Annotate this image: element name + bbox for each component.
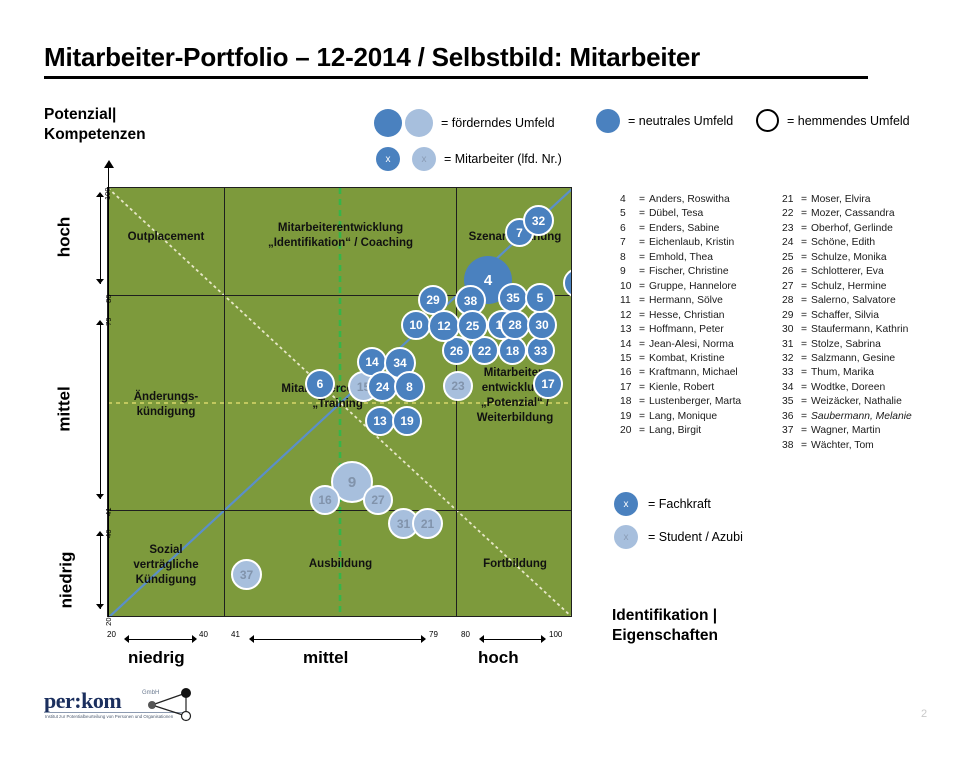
employee-number: 9 [620, 265, 639, 279]
employee-list-item: 28=Salerno, Salvatore [782, 294, 912, 308]
equals-sign: = [801, 410, 811, 424]
employee-list-item: 27=Schulz, Hermine [782, 280, 912, 294]
employee-number: 24 [782, 236, 801, 250]
employee-number: 34 [782, 381, 801, 395]
employee-name: Oberhof, Gerlinde [811, 222, 893, 236]
cell-niedrig-hoch: Fortbildung [457, 511, 572, 617]
y-axis-scale: 100 80 79 41 40 20 hoch mittel niedrig [78, 187, 108, 617]
employee-number: 25 [782, 251, 801, 265]
equals-sign: = [801, 338, 811, 352]
employee-number: 12 [620, 309, 639, 323]
legend-environment: = förderndes Umfeld = neutrales Umfeld =… [374, 104, 934, 176]
bubble-6[interactable]: 6 [305, 369, 335, 399]
y-tick-80: 80 [104, 295, 113, 303]
y-tick-79: 79 [104, 318, 113, 326]
cell-hoch-niedrig: Outplacement [108, 188, 224, 295]
equals-sign: = [639, 251, 649, 265]
employee-list-item: 26=Schlotterer, Eva [782, 265, 912, 279]
cell-label-sozial-vertraegliche-kuendigung: Sozial verträgliche Kündigung [108, 543, 224, 588]
employee-name: Schaffer, Silvia [811, 309, 879, 323]
employee-list-item: 14=Jean-Alesi, Norma [620, 338, 741, 352]
legend-roles: x = Fachkraft x = Student / Azubi [614, 492, 743, 558]
employee-name: Emhold, Thea [649, 251, 713, 265]
employee-number: 20 [620, 424, 639, 438]
bubble-37[interactable]: 37 [231, 559, 262, 590]
logo-wordmark: per:kom [44, 688, 121, 714]
employee-list-item: 6=Enders, Sabine [620, 222, 741, 236]
legend-label-student-azubi: = Student / Azubi [648, 530, 743, 544]
employee-list-item: 23=Oberhof, Gerlinde [782, 222, 912, 236]
slide-canvas: Mitarbeiter-Portfolio – 12-2014 / Selbst… [0, 0, 960, 760]
equals-sign: = [639, 366, 649, 380]
bubble-light-x-icon: x [412, 147, 436, 171]
employee-number: 23 [782, 222, 801, 236]
employee-number: 35 [782, 395, 801, 409]
y-band-mittel-arrow-bottom [96, 494, 104, 499]
bubble-8[interactable]: 8 [394, 371, 425, 402]
legend-label-neutrales-umfeld: = neutrales Umfeld [628, 114, 733, 128]
y-band-label-mittel: mittel [55, 386, 75, 431]
employee-list-item: 17=Kienle, Robert [620, 381, 741, 395]
employee-list-item: 21=Moser, Elvira [782, 193, 912, 207]
employee-number: 22 [782, 207, 801, 221]
employee-name: Mozer, Cassandra [811, 207, 895, 221]
employee-name: Wodtke, Doreen [811, 381, 885, 395]
legend-item-neutrales-umfeld: = neutrales Umfeld [596, 109, 733, 133]
employee-name: Lang, Birgit [649, 424, 701, 438]
x-band-hoch-arrow-right [541, 635, 546, 643]
employee-list-item: 5=Dübel, Tesa [620, 207, 741, 221]
employee-name: Staufermann, Kathrin [811, 323, 908, 337]
y-tick-41: 41 [104, 508, 113, 516]
equals-sign: = [639, 193, 649, 207]
employee-list-column-1: 4=Anders, Roswitha5=Dübel, Tesa6=Enders,… [620, 193, 741, 439]
x-band-niedrig-arrow-right [192, 635, 197, 643]
employee-number: 18 [620, 395, 639, 409]
employee-list-item: 8=Emhold, Thea [620, 251, 741, 265]
equals-sign: = [639, 236, 649, 250]
employee-name: Saubermann, Melanie [811, 410, 912, 424]
employee-list-item: 25=Schulze, Monika [782, 251, 912, 265]
circle-dark-icon [596, 109, 620, 133]
employee-list-item: 11=Hermann, Sölve [620, 294, 741, 308]
employee-name: Wagner, Martin [811, 424, 880, 438]
employee-list-item: 36=Saubermann, Melanie [782, 410, 912, 424]
page-number: 2 [921, 708, 927, 720]
bubble-10[interactable]: 10 [401, 310, 431, 340]
x-tick-80: 80 [461, 630, 470, 639]
equals-sign: = [639, 381, 649, 395]
bubble-18[interactable]: 18 [498, 336, 527, 365]
x-band-mittel-arrow-right [421, 635, 426, 643]
employee-list-item: 33=Thum, Marika [782, 366, 912, 380]
bubble-21[interactable]: 21 [412, 508, 443, 539]
employee-list-item: 18=Lustenberger, Marta [620, 395, 741, 409]
employee-number: 14 [620, 338, 639, 352]
x-axis-scale: 20 40 niedrig 41 79 mittel 80 100 hoch [107, 625, 572, 675]
employee-name: Kienle, Robert [649, 381, 714, 395]
page-title: Mitarbeiter-Portfolio – 12-2014 / Selbst… [44, 42, 700, 73]
bubble-12[interactable]: 12 [428, 310, 460, 342]
employee-name: Stolze, Sabrina [811, 338, 881, 352]
employee-number: 6 [620, 222, 639, 236]
employee-name: Kombat, Kristine [649, 352, 725, 366]
employee-number: 16 [620, 366, 639, 380]
employee-name: Hesse, Christian [649, 309, 725, 323]
employee-name: Wächter, Tom [811, 439, 874, 453]
employee-name: Schöne, Edith [811, 236, 875, 250]
employee-number: 15 [620, 352, 639, 366]
employee-number: 8 [620, 251, 639, 265]
employee-list-item: 12=Hesse, Christian [620, 309, 741, 323]
employee-name: Fischer, Christine [649, 265, 729, 279]
employee-number: 33 [782, 366, 801, 380]
employee-list-item: 35=Weizäcker, Nathalie [782, 395, 912, 409]
equals-sign: = [639, 265, 649, 279]
employee-list-item: 13=Hoffmann, Peter [620, 323, 741, 337]
employee-list-item: 7=Eichenlaub, Kristin [620, 236, 741, 250]
employee-list-item: 4=Anders, Roswitha [620, 193, 741, 207]
legend-label-foerderndes-umfeld: = förderndes Umfeld [441, 116, 555, 130]
employee-number: 4 [620, 193, 639, 207]
employee-list-item: 20=Lang, Birgit [620, 424, 741, 438]
y-tick-40: 40 [104, 530, 113, 538]
equals-sign: = [639, 222, 649, 236]
employee-name: Lang, Monique [649, 410, 717, 424]
legend-label-mitarbeiter-nr: = Mitarbeiter (lfd. Nr.) [444, 152, 562, 166]
x-tick-40: 40 [199, 630, 208, 639]
equals-sign: = [639, 395, 649, 409]
equals-sign: = [801, 424, 811, 438]
employee-number: 26 [782, 265, 801, 279]
equals-sign: = [801, 439, 811, 453]
employee-list-item: 19=Lang, Monique [620, 410, 741, 424]
y-band-niedrig-line [100, 535, 101, 609]
employee-name: Hoffmann, Peter [649, 323, 724, 337]
equals-sign: = [801, 222, 811, 236]
employee-list-item: 16=Kraftmann, Michael [620, 366, 741, 380]
employee-number: 36 [782, 410, 801, 424]
employee-list-item: 34=Wodtke, Doreen [782, 381, 912, 395]
y-axis-title: Potenzial| Kompetenzen [44, 105, 146, 145]
equals-sign: = [639, 424, 649, 438]
equals-sign: = [801, 381, 811, 395]
equals-sign: = [639, 352, 649, 366]
employee-number: 30 [782, 323, 801, 337]
x-axis-title-line1: Identifikation | [612, 606, 718, 626]
legend-item-student-azubi: x = Student / Azubi [614, 525, 743, 549]
bubble-34[interactable]: 35 [498, 283, 528, 313]
x-tick-41: 41 [231, 630, 240, 639]
perkom-logo: per:kom GmbH Institut zur Potentialbeurt… [40, 684, 200, 728]
equals-sign: = [639, 294, 649, 308]
bubble-23[interactable]: 25 [457, 310, 488, 341]
x-tick-20: 20 [107, 630, 116, 639]
employee-name: Anders, Roswitha [649, 193, 730, 207]
employee-list-item: 38=Wächter, Tom [782, 439, 912, 453]
employee-list-item: 22=Mozer, Cassandra [782, 207, 912, 221]
equals-sign: = [639, 280, 649, 294]
employee-name: Hermann, Sölve [649, 294, 723, 308]
equals-sign: = [801, 294, 811, 308]
x-tick-100: 100 [549, 630, 562, 639]
employee-number: 32 [782, 352, 801, 366]
bubble-17[interactable]: 17 [533, 369, 563, 399]
legend-item-hemmendes-umfeld: = hemmendes Umfeld [756, 109, 910, 132]
bubble-27[interactable]: 27 [363, 485, 393, 515]
bubble-28[interactable]: 28 [500, 310, 530, 340]
x-axis-title-line2: Eigenschaften [612, 626, 718, 646]
employee-name: Schulze, Monika [811, 251, 887, 265]
equals-sign: = [801, 265, 811, 279]
x-band-label-mittel: mittel [303, 648, 348, 668]
employee-number: 38 [782, 439, 801, 453]
bubble-16[interactable]: 16 [310, 485, 340, 515]
employee-list-item: 30=Staufermann, Kathrin [782, 323, 912, 337]
legend-label-hemmendes-umfeld: = hemmendes Umfeld [787, 114, 910, 128]
bubble-13[interactable]: 13 [365, 406, 395, 436]
equals-sign: = [801, 251, 811, 265]
cell-label-outplacement: Outplacement [108, 230, 224, 245]
employee-name: Eichenlaub, Kristin [649, 236, 734, 250]
cell-label-aenderungskuendigung: Änderungs- kündigung [108, 390, 224, 420]
x-tick-79: 79 [429, 630, 438, 639]
employee-list-item: 10=Gruppe, Hannelore [620, 280, 741, 294]
x-band-niedrig-line [128, 639, 196, 640]
employee-name: Salerno, Salvatore [811, 294, 896, 308]
portfolio-matrix[interactable]: Outplacement Mitarbeiterentwicklung „Ide… [107, 187, 572, 617]
equals-sign: = [801, 352, 811, 366]
bubble-25[interactable]: 23 [443, 371, 473, 401]
y-band-hoch-arrow-bottom [96, 279, 104, 284]
employee-number: 29 [782, 309, 801, 323]
employee-list-item: 31=Stolze, Sabrina [782, 338, 912, 352]
y-band-label-hoch: hoch [54, 217, 74, 258]
x-band-hoch-line [483, 639, 545, 640]
bubble-19[interactable]: 19 [392, 406, 422, 436]
x-band-label-hoch: hoch [478, 648, 519, 668]
equals-sign: = [639, 410, 649, 424]
cell-hoch-mittel: Mitarbeiterentwicklung „Identifikation“ … [225, 188, 456, 295]
equals-sign: = [801, 193, 811, 207]
employee-list-column-2: 21=Moser, Elvira22=Mozer, Cassandra23=Ob… [782, 193, 912, 453]
employee-name: Weizäcker, Nathalie [811, 395, 902, 409]
bubble-33[interactable]: 33 [526, 336, 555, 365]
employee-number: 21 [782, 193, 801, 207]
employee-number: 27 [782, 280, 801, 294]
title-underline [44, 76, 868, 79]
equals-sign: = [801, 309, 811, 323]
y-band-mittel-line [100, 324, 101, 499]
employee-name: Gruppe, Hannelore [649, 280, 737, 294]
employee-number: 19 [620, 410, 639, 424]
employee-number: 10 [620, 280, 639, 294]
equals-sign: = [639, 338, 649, 352]
circle-hollow-icon [756, 109, 779, 132]
employee-list-item: 24=Schöne, Edith [782, 236, 912, 250]
cell-label-mitarbeiterentwicklung-identifikation: Mitarbeiterentwicklung „Identifikation“ … [225, 221, 456, 251]
x-band-label-niedrig: niedrig [128, 648, 185, 668]
employee-list-item: 32=Salzmann, Gesine [782, 352, 912, 366]
x-axis-title: Identifikation | Eigenschaften [612, 606, 718, 646]
y-axis-title-line2: Kompetenzen [44, 125, 146, 145]
cell-niedrig-niedrig: Sozial verträgliche Kündigung [108, 511, 224, 617]
bubble-32[interactable]: 32 [523, 205, 554, 236]
equals-sign: = [801, 395, 811, 409]
equals-sign: = [801, 366, 811, 380]
y-band-hoch-line [100, 196, 101, 284]
equals-sign: = [639, 323, 649, 337]
legend-item-mitarbeiter-nr: x x = Mitarbeiter (lfd. Nr.) [376, 147, 562, 171]
y-band-label-niedrig: niedrig [56, 552, 76, 609]
legend-item-foerderndes-umfeld: = förderndes Umfeld [374, 109, 555, 137]
employee-number: 28 [782, 294, 801, 308]
legend-label-fachkraft: = Fachkraft [648, 497, 711, 511]
cell-mittel-niedrig: Änderungs- kündigung [108, 296, 224, 510]
employee-name: Enders, Sabine [649, 222, 719, 236]
circle-dark-icon [374, 109, 402, 137]
y-tick-100: 100 [104, 188, 113, 201]
x-band-mittel-line [253, 639, 425, 640]
equals-sign: = [639, 207, 649, 221]
employee-list-item: 37=Wagner, Martin [782, 424, 912, 438]
bubble-dark-x-icon: x [376, 147, 400, 171]
logo-network-icon [144, 688, 200, 722]
employee-name: Thum, Marika [811, 366, 874, 380]
employee-name: Salzmann, Gesine [811, 352, 895, 366]
employee-name: Moser, Elvira [811, 193, 871, 207]
employee-list-item: 29=Schaffer, Silvia [782, 309, 912, 323]
y-axis-line [108, 167, 109, 617]
employee-number: 37 [782, 424, 801, 438]
employee-name: Jean-Alesi, Norma [649, 338, 734, 352]
employee-number: 13 [620, 323, 639, 337]
employee-list-item: 9=Fischer, Christine [620, 265, 741, 279]
employee-number: 5 [620, 207, 639, 221]
employee-name: Kraftmann, Michael [649, 366, 738, 380]
bubble-30[interactable]: 30 [527, 310, 557, 340]
bubble-5[interactable]: 5 [525, 283, 555, 313]
cell-label-fortbildung: Fortbildung [457, 557, 572, 572]
circle-light-icon [405, 109, 433, 137]
equals-sign: = [639, 309, 649, 323]
legend-item-fachkraft: x = Fachkraft [614, 492, 743, 516]
employee-number: 7 [620, 236, 639, 250]
equals-sign: = [801, 236, 811, 250]
equals-sign: = [801, 207, 811, 221]
employee-number: 17 [620, 381, 639, 395]
employee-name: Schlotterer, Eva [811, 265, 884, 279]
y-axis-title-line1: Potenzial| [44, 105, 146, 125]
bubble-light-x-icon: x [614, 525, 638, 549]
equals-sign: = [801, 280, 811, 294]
bubble-dark-x-icon: x [614, 492, 638, 516]
employee-name: Lustenberger, Marta [649, 395, 741, 409]
employee-name: Dübel, Tesa [649, 207, 703, 221]
employee-name: Schulz, Hermine [811, 280, 887, 294]
employee-number: 31 [782, 338, 801, 352]
employee-number: 11 [620, 294, 639, 308]
equals-sign: = [801, 323, 811, 337]
y-band-niedrig-arrow-bottom [96, 604, 104, 609]
employee-list-item: 15=Kombat, Kristine [620, 352, 741, 366]
